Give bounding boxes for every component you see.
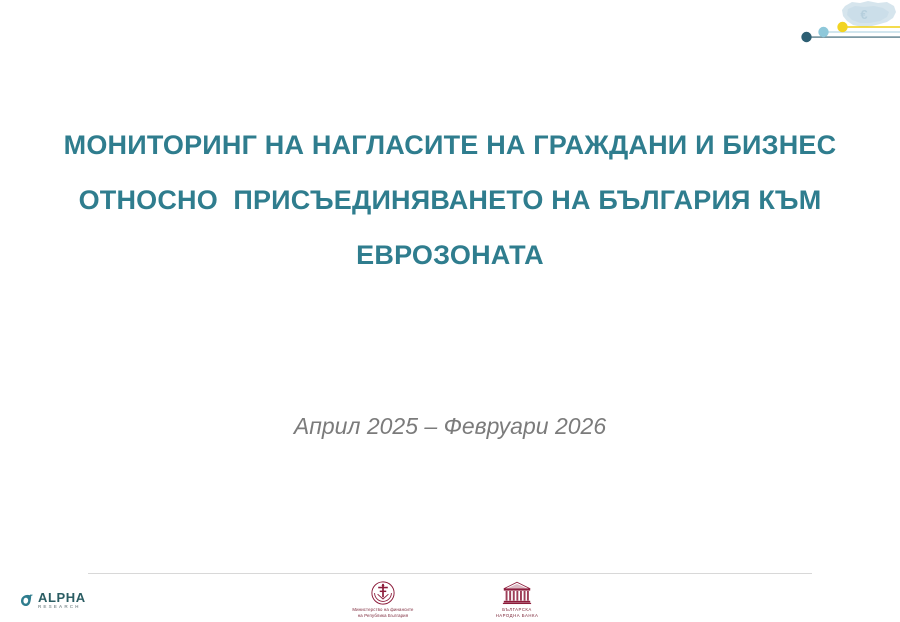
- line-light-blue: [823, 31, 900, 33]
- footer-logo-band: ALPHA RESEARCH: [0, 578, 900, 622]
- line-yellow: [842, 26, 900, 28]
- line-dark-teal: [806, 36, 900, 37]
- institution-logos: Министерство на финансите на Република Б…: [335, 580, 565, 619]
- bulgarian-national-bank-caption: БЪЛГАРСКА НАРОДНА БАНКА: [496, 607, 539, 619]
- bulgaria-map-icon: [842, 1, 896, 27]
- alpha-name: ALPHA: [38, 591, 86, 604]
- ministry-of-finance-emblem-icon: [371, 580, 395, 605]
- ministry-of-finance-caption: Министерство на финансите на Република Б…: [352, 607, 413, 619]
- dot-light-blue: [818, 27, 828, 37]
- dot-dark-teal: [801, 32, 811, 42]
- alpha-subtitle: RESEARCH: [38, 605, 86, 610]
- title-line-2: ОТНОСНО ПРИСЪЕДИНЯВАНЕТО НА БЪЛГАРИЯ КЪМ: [0, 173, 900, 228]
- alpha-research-wordmark: ALPHA RESEARCH: [38, 591, 86, 610]
- bulgarian-national-bank-logo: БЪЛГАРСКА НАРОДНА БАНКА: [469, 580, 565, 619]
- decoration-graphic: €: [788, 0, 900, 62]
- ministry-of-finance-logo: Министерство на финансите на Република Б…: [335, 580, 431, 619]
- footer-divider: [88, 573, 812, 574]
- euro-symbol-icon: €: [860, 7, 867, 22]
- subtitle-period: Април 2025 – Февруари 2026: [0, 411, 900, 441]
- page-title: МОНИТОРИНГ НА НАГЛАСИТЕ НА ГРАЖДАНИ И БИ…: [0, 118, 900, 283]
- dot-yellow: [837, 22, 847, 32]
- title-line-3: ЕВРОЗОНАТА: [0, 228, 900, 283]
- title-line-1: МОНИТОРИНГ НА НАГЛАСИТЕ НА ГРАЖДАНИ И БИ…: [0, 118, 900, 173]
- alpha-research-logo: ALPHA RESEARCH: [18, 589, 86, 611]
- bulgarian-national-bank-emblem-icon: [502, 580, 532, 605]
- decorative-motif: €: [788, 0, 900, 62]
- alpha-mark-icon: [18, 592, 35, 609]
- title-slide: € МОНИТОРИНГ НА НАГЛАСИТЕ НА ГРАЖДАНИ И …: [0, 0, 900, 622]
